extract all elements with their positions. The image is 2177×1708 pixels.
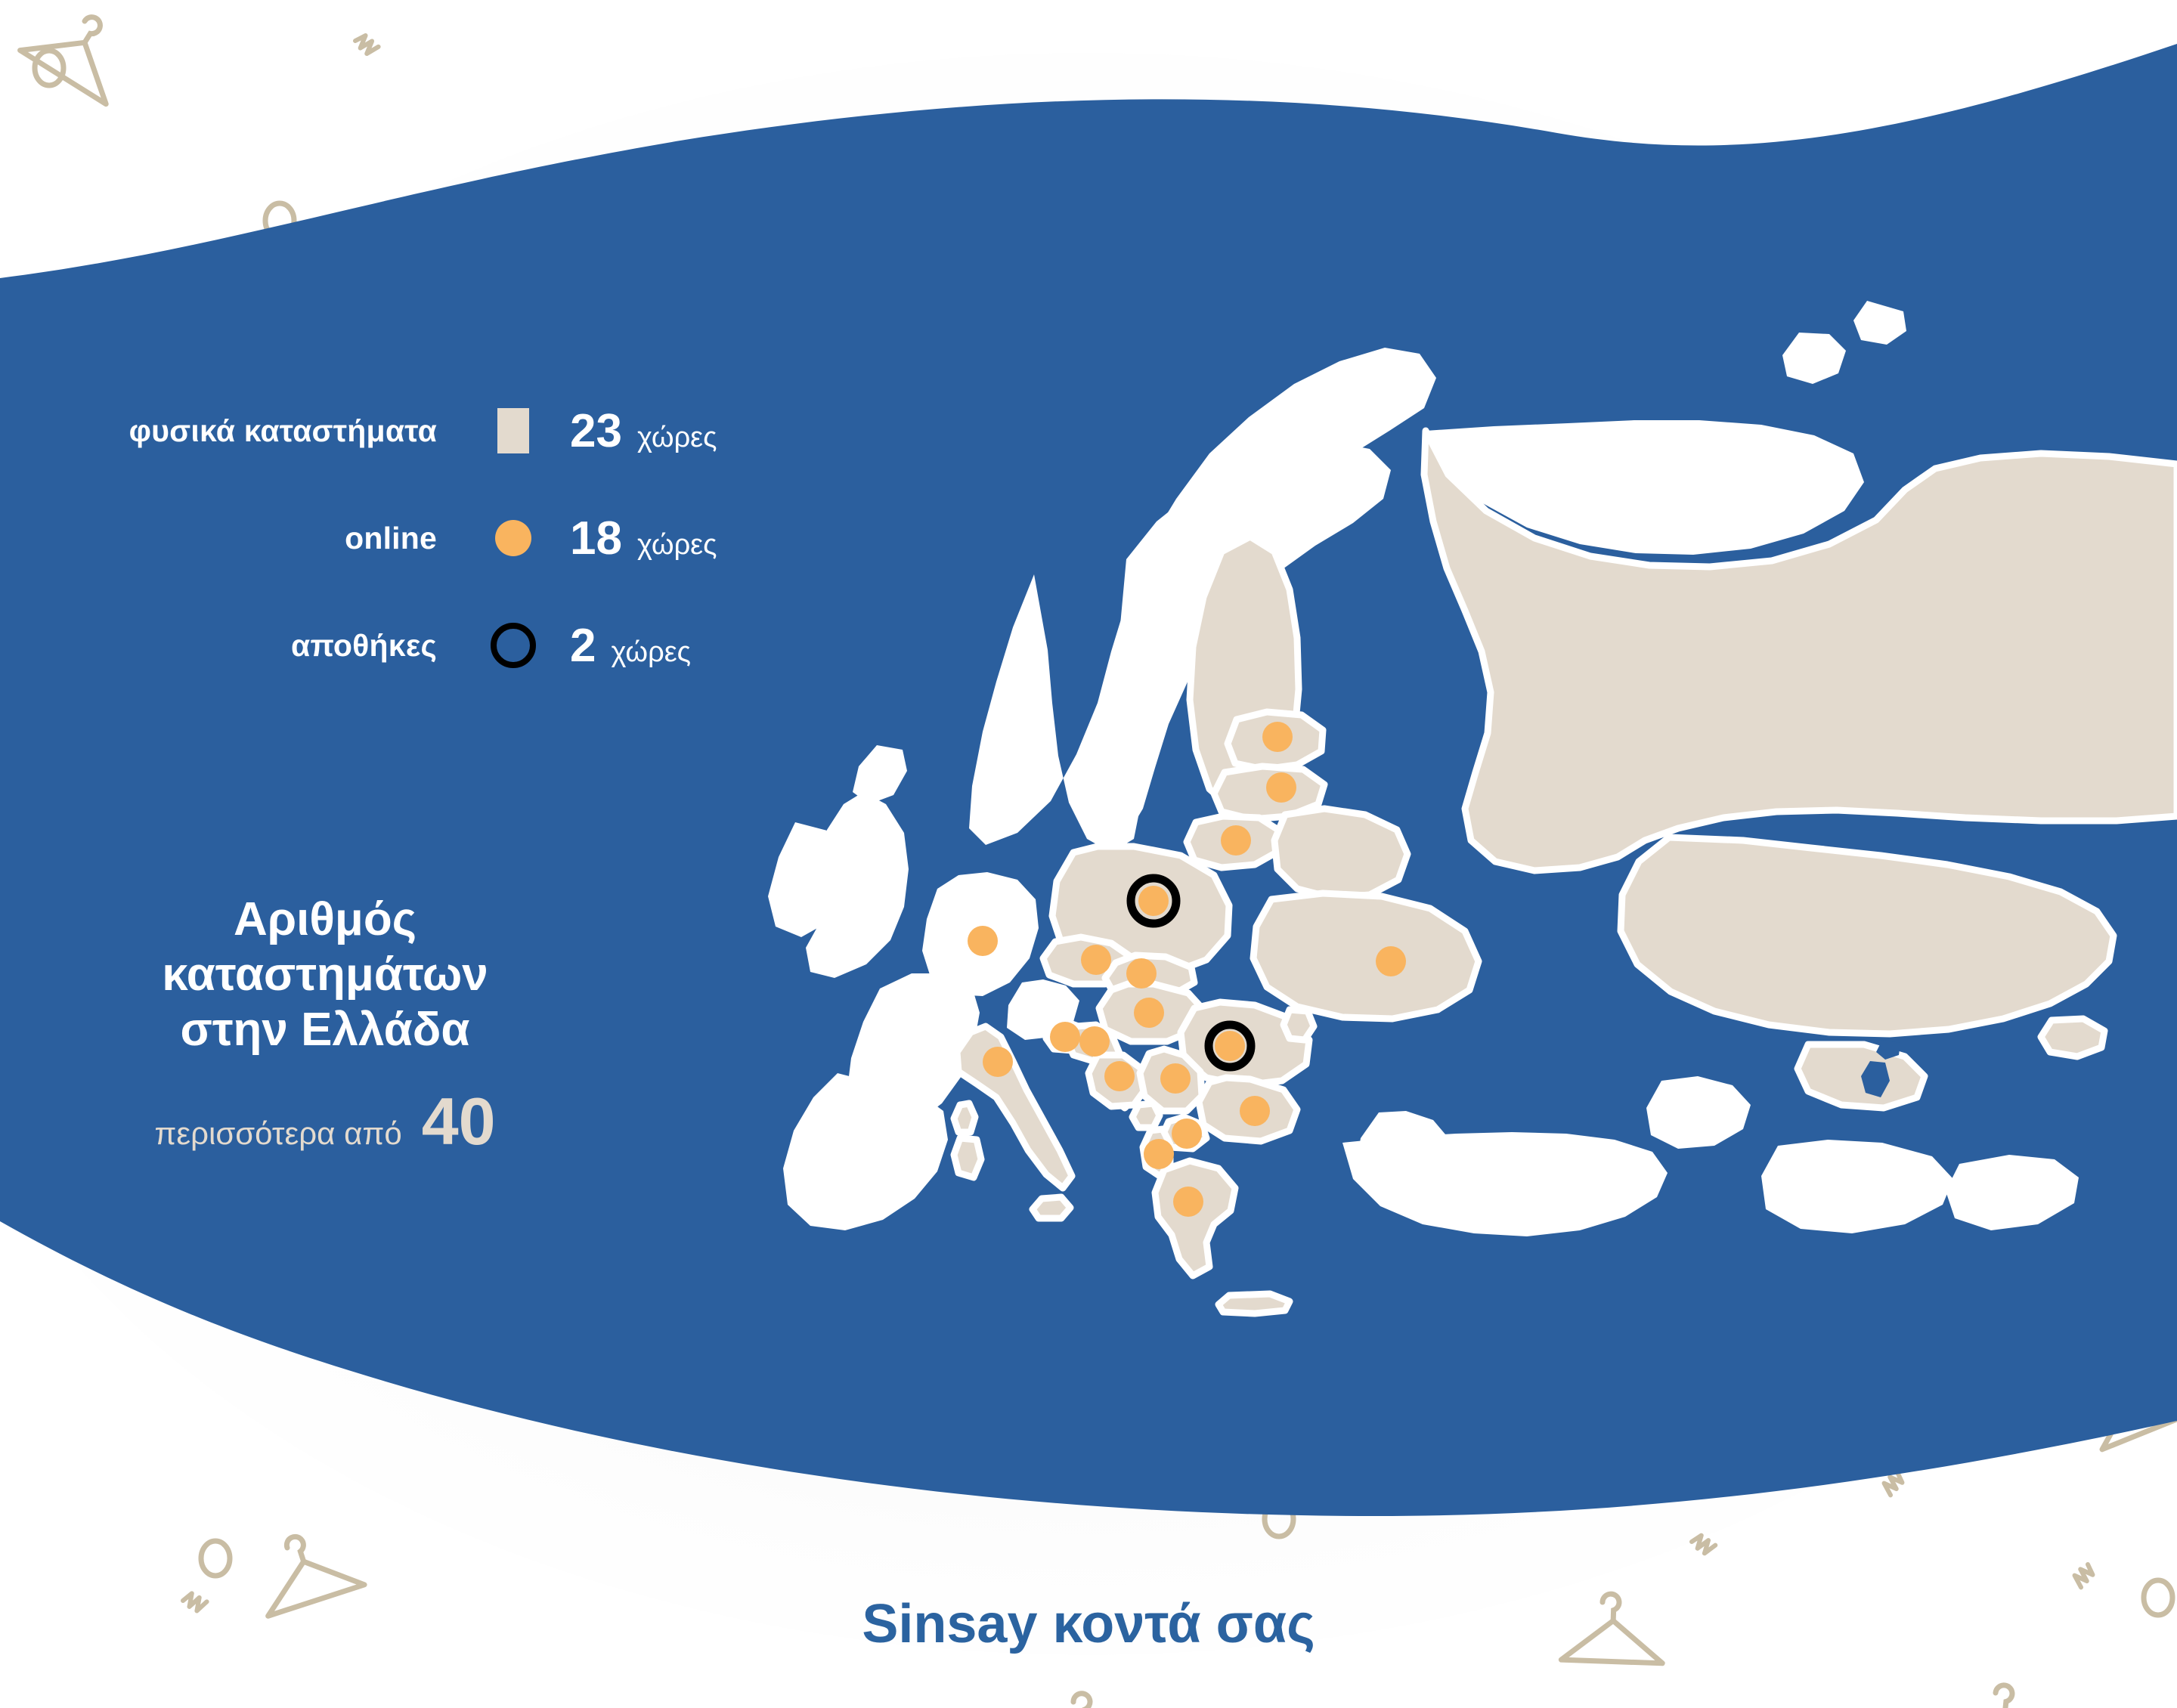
legend-unit-warehouses: χώρες — [611, 636, 690, 669]
greece-stats-number: 40 — [422, 1083, 496, 1160]
greece-stats-prefix: περισσότερα από — [154, 1115, 401, 1152]
legend-label-warehouses: αποθήκες — [91, 628, 484, 664]
legend-swatch-black-ring — [484, 608, 543, 683]
legend-row-physical-stores: φυσικά καταστήματα 23 χώρες — [91, 393, 771, 469]
legend-row-warehouses: αποθήκες 2 χώρες — [91, 608, 771, 683]
legend-row-online: online 18 χώρες — [91, 500, 771, 576]
legend-unit-online: χώρες — [637, 529, 717, 562]
beige-square-icon — [497, 408, 529, 453]
orange-dot-icon — [495, 520, 531, 556]
legend-label-physical-stores: φυσικά καταστήματα — [91, 413, 484, 449]
legend-count-warehouses: 2 — [570, 619, 596, 673]
greece-stats-block: Αριθμός καταστημάτων στην Ελλάδα περισσό… — [76, 892, 574, 1160]
infographic-canvas: φυσικά καταστήματα 23 χώρες online 18 χώ… — [0, 0, 2177, 1708]
greece-stats-subline: περισσότερα από 40 — [76, 1083, 574, 1160]
legend-label-online: online — [91, 521, 484, 556]
legend: φυσικά καταστήματα 23 χώρες online 18 χώ… — [91, 393, 771, 715]
legend-swatch-beige-square — [484, 393, 543, 469]
legend-value-physical-stores: 23 χώρες — [543, 404, 717, 458]
text-overlay: φυσικά καταστήματα 23 χώρες online 18 χώ… — [0, 0, 2177, 1708]
legend-unit-physical-stores: χώρες — [637, 422, 717, 454]
legend-swatch-orange-dot — [484, 500, 543, 576]
greece-stats-title: Αριθμός καταστημάτων στην Ελλάδα — [76, 892, 574, 1057]
footer-title: Sinsay κοντά σας — [0, 1593, 2177, 1655]
legend-count-online: 18 — [570, 512, 622, 565]
black-ring-icon — [491, 623, 536, 668]
legend-value-online: 18 χώρες — [543, 512, 717, 565]
legend-count-physical-stores: 23 — [570, 404, 622, 458]
legend-value-warehouses: 2 χώρες — [543, 619, 691, 673]
